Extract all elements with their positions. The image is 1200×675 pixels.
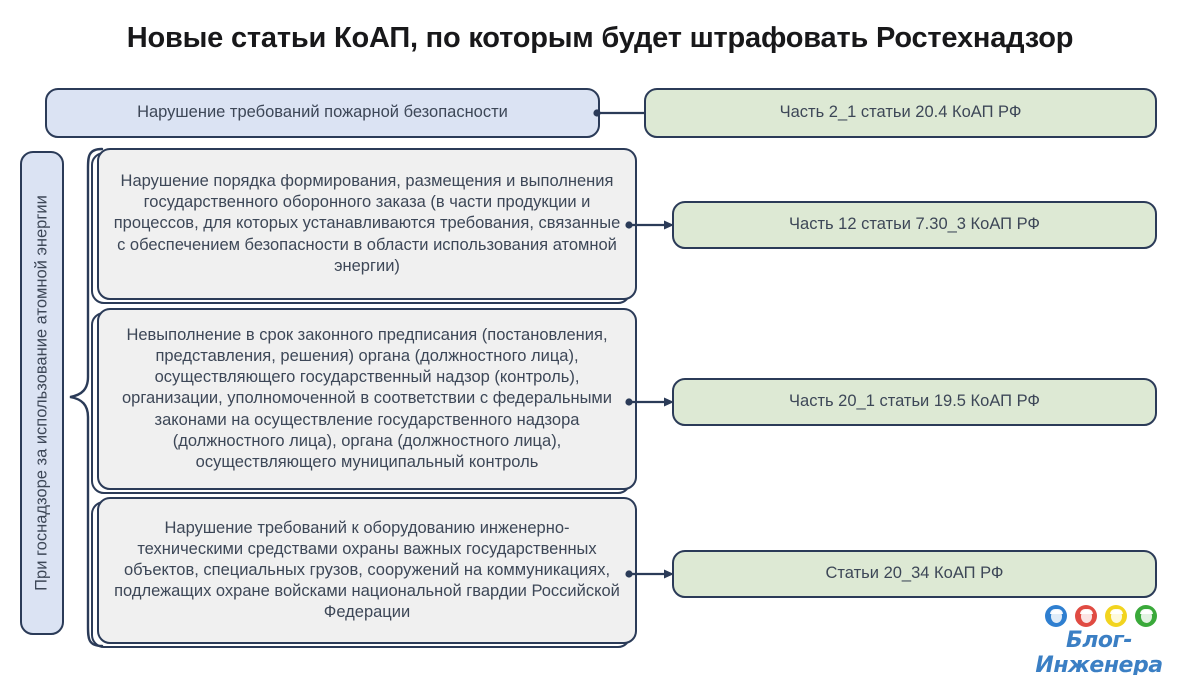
violation-text-3: Невыполнение в срок законного предписани… [113,325,621,473]
violation-text-2: Нарушение порядка формирования, размещен… [113,171,621,277]
brand-logo[interactable]: Блог-Инженера Современный Подход с Инжен… [1014,605,1184,667]
article-text-1: Часть 2_1 статьи 20.4 КоАП РФ [780,102,1022,123]
logo-dot-green-icon [1135,605,1157,627]
article-text-2: Часть 12 статьи 7.30_3 КоАП РФ [789,214,1040,235]
diagram-canvas: Новые статьи КоАП, по которым будет штра… [0,0,1200,675]
vertical-category-label: При госнадзоре за использование атомной … [20,151,64,635]
article-box-3[interactable]: Часть 20_1 статьи 19.5 КоАП РФ [672,378,1157,426]
violation-text-4: Нарушение требований к оборудованию инже… [113,518,621,624]
logo-dot-blue-icon [1045,605,1067,627]
violation-box-4[interactable]: Нарушение требований к оборудованию инже… [97,497,637,644]
violation-box-2[interactable]: Нарушение порядка формирования, размещен… [97,148,637,300]
vertical-category-label-text: При госнадзоре за использование атомной … [32,154,53,632]
logo-dot-yellow-icon [1105,605,1127,627]
article-text-3: Часть 20_1 статьи 19.5 КоАП РФ [789,391,1040,412]
logo-dots-group [1018,605,1184,627]
page-title: Новые статьи КоАП, по которым будет штра… [0,22,1200,55]
article-box-4[interactable]: Статьи 20_34 КоАП РФ [672,550,1157,598]
logo-wordmark: Блог-Инженера [1014,628,1184,675]
article-box-1[interactable]: Часть 2_1 статьи 20.4 КоАП РФ [644,88,1157,138]
article-text-4: Статьи 20_34 КоАП РФ [826,563,1004,584]
violation-box-3[interactable]: Невыполнение в срок законного предписани… [97,308,637,490]
violation-text-1: Нарушение требований пожарной безопаснос… [137,102,508,123]
violation-box-1[interactable]: Нарушение требований пожарной безопаснос… [45,88,600,138]
article-box-2[interactable]: Часть 12 статьи 7.30_3 КоАП РФ [672,201,1157,249]
logo-dot-red-icon [1075,605,1097,627]
